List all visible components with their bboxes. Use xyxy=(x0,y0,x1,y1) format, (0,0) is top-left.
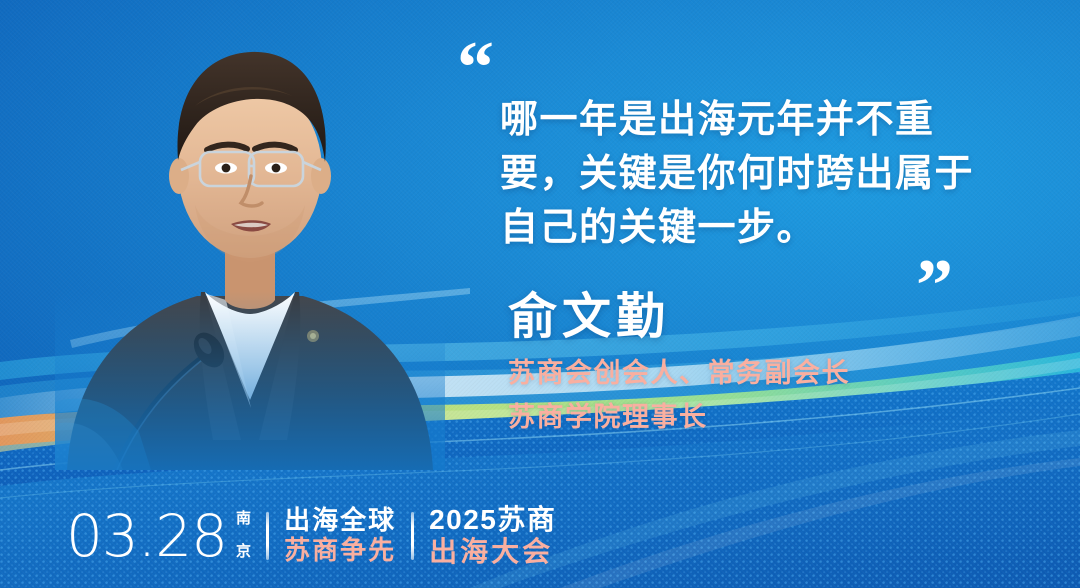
event-title-line-1: 2025苏商 xyxy=(429,504,556,536)
city-char-2: 京 xyxy=(236,544,251,559)
banner-slogan-block: 出海全球 苏商争先 xyxy=(284,506,396,565)
quote-close-mark: ” xyxy=(916,264,951,310)
speaker-name: 俞文勤 xyxy=(508,292,850,343)
event-banner: 03.28 南 京 出海全球 苏商争先 2025苏商 出海大会 xyxy=(0,478,1080,588)
speaker-title-secondary: 苏商学院理事长 xyxy=(508,396,850,440)
event-date: 03.28 xyxy=(66,507,227,565)
banner-divider-1 xyxy=(266,512,269,560)
speaker-title-primary: 苏商会创会人、常务副会长 xyxy=(508,352,850,396)
slogan-line-2: 苏商争先 xyxy=(284,536,396,566)
quote-block: “ 哪一年是出海元年并不重要，关键是你何时跨出属于自己的关键一步。 ” xyxy=(455,46,1015,256)
quote-text: 哪一年是出海元年并不重要，关键是你何时跨出属于自己的关键一步。 xyxy=(500,94,1000,256)
event-poster: “ 哪一年是出海元年并不重要，关键是你何时跨出属于自己的关键一步。 ” 俞文勤 … xyxy=(0,0,1080,588)
speaker-info: 俞文勤 苏商会创会人、常务副会长 苏商学院理事长 xyxy=(508,292,850,440)
event-city: 南 京 xyxy=(236,511,251,559)
city-char-1: 南 xyxy=(236,511,251,526)
banner-divider-2 xyxy=(411,512,414,560)
event-title-line-2: 出海大会 xyxy=(429,536,556,568)
quote-open-mark: “ xyxy=(457,46,1015,90)
banner-event-block: 2025苏商 出海大会 xyxy=(429,504,556,568)
slogan-line-1: 出海全球 xyxy=(284,506,396,536)
